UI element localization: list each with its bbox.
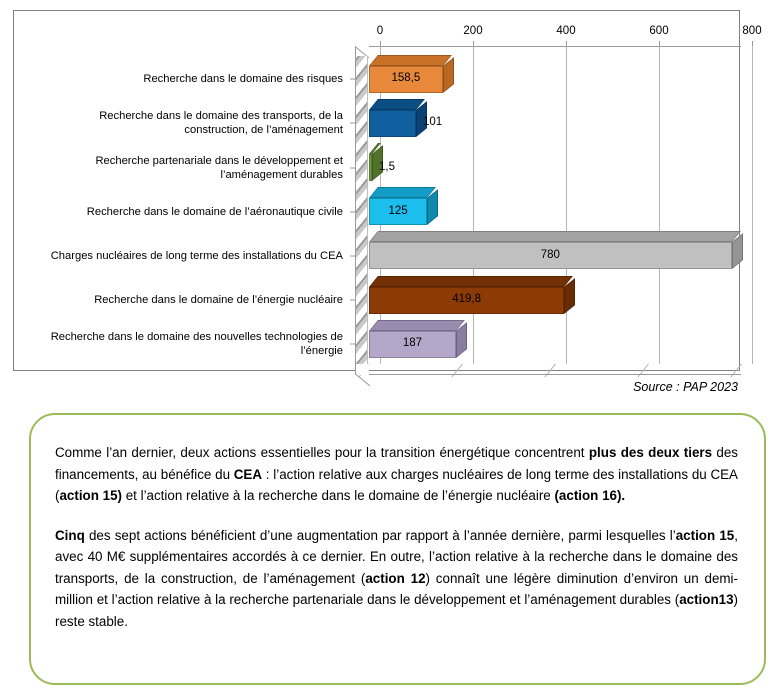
value-axis-line — [369, 46, 741, 47]
bar-value-label: 1,5 — [379, 161, 395, 173]
bar — [369, 154, 372, 181]
bar — [369, 110, 416, 137]
comment-bold-run: action 12 — [365, 571, 425, 586]
source-note: Source : PAP 2023 — [633, 380, 738, 394]
comment-bold-run: plus des deux tiers — [589, 445, 712, 460]
gridline-depth-edge — [637, 364, 648, 378]
comment-box: Comme l’an dernier, deux actions essenti… — [29, 413, 766, 685]
comment-bold-run: CEA — [234, 467, 262, 482]
comment-paragraph: Comme l’an dernier, deux actions essenti… — [55, 442, 738, 507]
comment-bold-run: (action 16). — [554, 488, 625, 503]
plot-floor-line — [369, 374, 741, 375]
category-axis-label: Recherche partenariale dans le développe… — [18, 154, 343, 182]
comment-text-run: et l’action relative à la recherche dans… — [122, 488, 554, 503]
bar-top-face — [369, 320, 465, 331]
category-axis-tick — [350, 123, 355, 124]
value-axis-tick-label: 600 — [649, 25, 668, 37]
category-axis-label: Recherche dans le domaine des risques — [18, 72, 343, 86]
category-axis-label: Charges nucléaires de long terme des ins… — [18, 249, 343, 263]
category-axis-label: Recherche dans le domaine des transports… — [18, 109, 343, 137]
chart-panel: 0200400600800 Recherche dans le domaine … — [13, 10, 740, 371]
comment-text-run: des sept actions bénéficient d’une augme… — [85, 528, 676, 543]
category-axis-label: Recherche dans le domaine de l’énergie n… — [18, 293, 343, 307]
category-axis-label: Recherche dans le domaine de l’aéronauti… — [18, 205, 343, 219]
category-axis-tick — [350, 344, 355, 345]
value-axis-tick-label: 400 — [556, 25, 575, 37]
comment-text-run: Comme l’an dernier, deux actions essenti… — [55, 445, 589, 460]
category-axis-tick — [350, 255, 355, 256]
gridline-depth-edge — [730, 364, 741, 378]
comment-bold-run: action 15) — [59, 488, 122, 503]
gridline-depth-edge — [451, 364, 462, 378]
bar-top-face — [369, 187, 436, 198]
value-axis-tick-label: 800 — [742, 25, 761, 37]
bar-front-face — [369, 110, 416, 137]
bar-top-face — [369, 276, 573, 287]
category-axis-tick — [350, 211, 355, 212]
gridline-vertical — [659, 46, 660, 364]
category-axis-tick — [350, 300, 355, 301]
value-axis-tick-label: 200 — [463, 25, 482, 37]
gridline-vertical — [566, 46, 567, 364]
comment-paragraph: Cinq des sept actions bénéficient d’une … — [55, 525, 738, 633]
value-axis-tick-label: 0 — [377, 25, 383, 37]
gridline-vertical — [473, 46, 474, 364]
bar-top-face — [369, 231, 741, 242]
comment-bold-run: action13 — [679, 592, 733, 607]
plot-side-wall — [355, 56, 368, 364]
gridline-depth-edge — [544, 364, 555, 378]
bar-value-label: 780 — [541, 249, 560, 261]
category-axis-tick — [350, 79, 355, 80]
bar-value-label: 101 — [423, 116, 442, 128]
bar-value-label: 125 — [388, 205, 407, 217]
category-axis-label: Recherche dans le domaine des nouvelles … — [18, 330, 343, 358]
value-axis: 0200400600800 — [14, 11, 739, 33]
category-axis-tick — [350, 167, 355, 168]
bar-value-label: 419,8 — [452, 293, 481, 305]
comment-bold-run: Cinq — [55, 528, 85, 543]
bar-front-face — [369, 154, 372, 181]
bar-top-face — [369, 55, 452, 66]
gridline-vertical — [752, 46, 753, 364]
comment-bold-run: action 15 — [676, 528, 735, 543]
comment-text-container: Comme l’an dernier, deux actions essenti… — [31, 415, 764, 642]
plot-wall-bottom-cap — [355, 364, 369, 375]
bar-value-label: 158,5 — [391, 72, 420, 84]
bar-value-label: 187 — [403, 337, 422, 349]
